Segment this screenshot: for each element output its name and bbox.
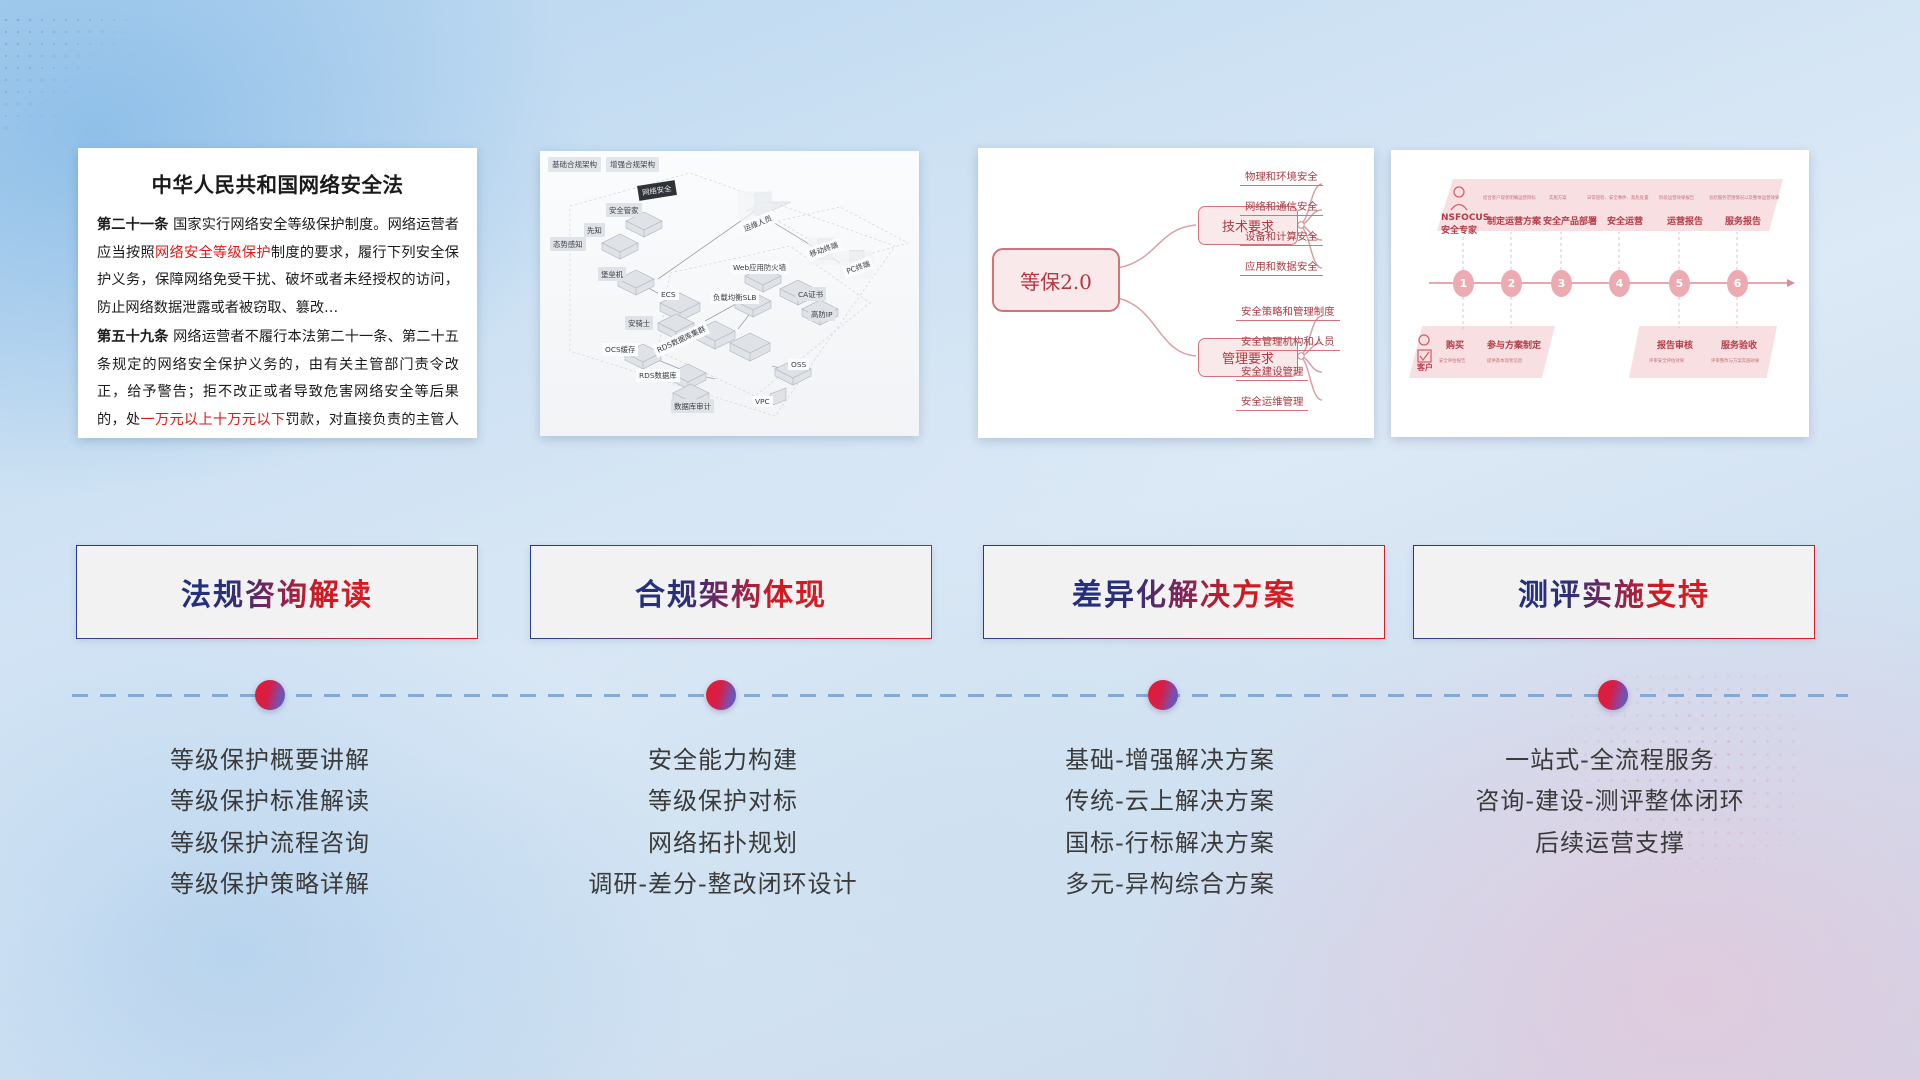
decorative-dots-top-left [0, 14, 130, 134]
law-body: 第二十一条 国家实行网络安全等级保护制度。网络运营者应当按照网络安全等级保护制度… [78, 212, 477, 438]
headline-box-compliance-architecture[interactable]: 合规架构体现 [530, 545, 932, 639]
mindmap-leaf-device-compute: 设备和计算安全 [1240, 228, 1323, 246]
law-article-21-highlight: 网络安全等级保护 [155, 245, 271, 261]
nsfocus-timeline: NSFOCUS 安全专家 客户 结合客户现状明确运营目标 制定运营方案 实施方案… [1391, 150, 1809, 437]
arch-label-security-butler: 安全管家 [606, 203, 642, 217]
architecture-diagram: 基础合规架构 增强合规架构 [540, 151, 919, 436]
mindmap: 等保2.0 技术要求 管理要求 物理和环境安全 网络和通信安全 设备和计算安全 … [978, 148, 1374, 438]
list-item: 咨询-建设-测评整体闭环 [1400, 781, 1820, 822]
mindmap-leaf-policy-system: 安全策略和管理制度 [1236, 303, 1340, 321]
law-article-59: 第五十九条 网络运营者不履行本法第二十一条、第二十五条规定的网络安全保护义务的，… [97, 324, 459, 438]
arch-label-oss: OSS [788, 359, 809, 370]
nsfocus-step-dot-6: 6 [1727, 270, 1748, 297]
mindmap-leaf-app-data: 应用和数据安全 [1240, 258, 1323, 276]
card-cybersecurity-law: 中华人民共和国网络安全法 第二十一条 国家实行网络安全等级保护制度。网络运营者应… [78, 148, 477, 438]
nsfocus-bottom-report-review: 报告审核 [1657, 338, 1693, 351]
list-item: 后续运营支撑 [1400, 823, 1820, 864]
arch-label-rds-database: RDS数据库 [636, 369, 680, 382]
headline-boxes-row: 法规咨询解读 合规架构体现 差异化解决方案 测评实施支持 [0, 545, 1920, 637]
nsfocus-bottom-acceptance: 服务验收 [1721, 338, 1757, 351]
feature-list-column-3: 基础-增强解决方案 传统-云上解决方案 国标-行标解决方案 多元-异构综合方案 [960, 740, 1380, 905]
headline-label-3: 差异化解决方案 [1072, 570, 1296, 614]
list-item: 一站式-全流程服务 [1400, 740, 1820, 781]
image-cards-row: 中华人民共和国网络安全法 第二十一条 国家实行网络安全等级保护制度。网络运营者应… [0, 148, 1920, 440]
list-item: 国标-行标解决方案 [960, 823, 1380, 864]
arch-label-ecs: ECS [658, 289, 679, 300]
list-item: 等级保护标准解读 [60, 781, 480, 822]
nsfocus-bottom-participate-sub: 提供基本现状信息 [1487, 358, 1522, 364]
card-dengbao-mindmap: 等保2.0 技术要求 管理要求 物理和环境安全 网络和通信安全 设备和计算安全 … [978, 148, 1374, 438]
list-item: 等级保护策略详解 [60, 864, 480, 905]
nsfocus-customer-label: 客户 [1417, 362, 1433, 373]
timeline-dot-2 [706, 680, 736, 710]
arch-label-vpc: VPC [752, 396, 773, 407]
mindmap-leaf-physical-env: 物理和环境安全 [1240, 168, 1323, 186]
mindmap-leaf-network-comm: 网络和通信安全 [1240, 198, 1323, 216]
feature-list-column-4: 一站式-全流程服务 咨询-建设-测评整体闭环 后续运营支撑 [1400, 740, 1820, 864]
list-item: 等级保护概要讲解 [60, 740, 480, 781]
list-item: 多元-异构综合方案 [960, 864, 1380, 905]
list-item: 调研-差分-整改闭环设计 [513, 864, 933, 905]
headline-label-1: 法规咨询解读 [181, 570, 373, 614]
nsfocus-bottom-participate: 参与方案制定 [1487, 338, 1541, 351]
card-nsfocus-service-flow: NSFOCUS 安全专家 客户 结合客户现状明确运营目标 制定运营方案 实施方案… [1391, 150, 1809, 437]
nsfocus-step4-sub: 日常巡检、安全事件、高危处置 [1587, 195, 1648, 201]
arch-label-high-defense-ip: 高防IP [808, 307, 835, 321]
nsfocus-step-dot-2: 2 [1501, 270, 1522, 297]
mindmap-leaf-org-personnel: 安全管理机构和人员 [1236, 333, 1340, 351]
law-article-59-highlight-1: 一万元以上十万元以下 [140, 412, 285, 428]
nsfocus-step5-label: 运营报告 [1667, 214, 1703, 227]
nsfocus-step5-sub: 阶段运营效果报告 [1659, 195, 1694, 201]
headline-label-2: 合规架构体现 [635, 570, 827, 614]
mindmap-leaf-construction-mgmt: 安全建设管理 [1236, 363, 1308, 381]
nsfocus-expert-label: NSFOCUS [1441, 213, 1489, 223]
law-article-21-label: 第二十一条 [97, 217, 169, 233]
list-item: 等级保护对标 [513, 781, 933, 822]
nsfocus-expert-sub: 安全专家 [1441, 223, 1477, 236]
list-item: 传统-云上解决方案 [960, 781, 1380, 822]
timeline-dashed-line [72, 694, 1848, 697]
nsfocus-step-dot-4: 4 [1609, 270, 1630, 297]
headline-box-evaluation-support[interactable]: 测评实施支持 [1413, 545, 1815, 639]
mindmap-root-node: 等保2.0 [992, 248, 1120, 312]
arch-label-slb: 负载均衡SLB [710, 291, 759, 304]
mindmap-leaf-operation-mgmt: 安全运维管理 [1236, 393, 1308, 411]
nsfocus-step-dot-3: 3 [1551, 270, 1572, 297]
feature-list-column-2: 安全能力构建 等级保护对标 网络拓扑规划 调研-差分-整改闭环设计 [513, 740, 933, 905]
nsfocus-step-dot-5: 5 [1669, 270, 1690, 297]
list-item: 基础-增强解决方案 [960, 740, 1380, 781]
timeline-dot-3 [1148, 680, 1178, 710]
nsfocus-bottom-acceptance-sub: 评审整改与方案实施效果 [1711, 358, 1759, 364]
arch-label-anqishi: 安骑士 [625, 316, 653, 330]
arch-label-waf: Web应用防火墙 [730, 261, 789, 274]
law-article-21: 第二十一条 国家实行网络安全等级保护制度。网络运营者应当按照网络安全等级保护制度… [97, 212, 459, 322]
nsfocus-step3-label: 安全产品部署 [1543, 214, 1597, 227]
timeline-dot-1 [255, 680, 285, 710]
nsfocus-step-dot-1: 1 [1453, 270, 1474, 297]
arch-label-bastion-host: 堡垒机 [598, 267, 626, 281]
nsfocus-step3-sub: 实施方案 [1549, 195, 1567, 201]
arch-label-ocs-cache: OCS缓存 [602, 343, 638, 356]
arch-label-situational-awareness: 态势感知 [550, 237, 586, 251]
headline-label-4: 测评实施支持 [1518, 570, 1710, 614]
list-item: 等级保护流程咨询 [60, 823, 480, 864]
list-item: 网络拓扑规划 [513, 823, 933, 864]
nsfocus-step2-label: 制定运营方案 [1487, 214, 1541, 227]
nsfocus-step4-label: 安全运营 [1607, 214, 1643, 227]
nsfocus-bottom-purchase-sub: 安全评估报告 [1439, 358, 1465, 364]
nsfocus-step2-sub: 结合客户现状明确运营目标 [1483, 195, 1536, 201]
timeline-dot-4 [1598, 680, 1628, 710]
nsfocus-step6-sub: 总结服务范围情况以及整体运营效果 [1709, 195, 1779, 201]
list-item: 安全能力构建 [513, 740, 933, 781]
headline-box-regulation-consulting[interactable]: 法规咨询解读 [76, 545, 478, 639]
feature-lists-row: 等级保护概要讲解 等级保护标准解读 等级保护流程咨询 等级保护策略详解 安全能力… [0, 740, 1920, 980]
nsfocus-bottom-purchase: 购买 [1446, 338, 1464, 351]
card-compliance-architecture: 基础合规架构 增强合规架构 [540, 151, 919, 436]
law-title: 中华人民共和国网络安全法 [78, 168, 477, 198]
arch-label-database-audit: 数据库审计 [671, 399, 714, 413]
arch-label-ca-certificate: CA证书 [795, 287, 826, 301]
feature-list-column-1: 等级保护概要讲解 等级保护标准解读 等级保护流程咨询 等级保护策略详解 [60, 740, 480, 905]
arch-label-xianzhi: 先知 [584, 223, 605, 237]
nsfocus-graphics [1391, 150, 1809, 437]
nsfocus-bottom-report-review-sub: 评审安全评估效果 [1649, 358, 1684, 364]
nsfocus-step6-label: 服务报告 [1725, 214, 1761, 227]
headline-box-differentiated-solution[interactable]: 差异化解决方案 [983, 545, 1385, 639]
law-article-59-label: 第五十九条 [97, 329, 169, 345]
